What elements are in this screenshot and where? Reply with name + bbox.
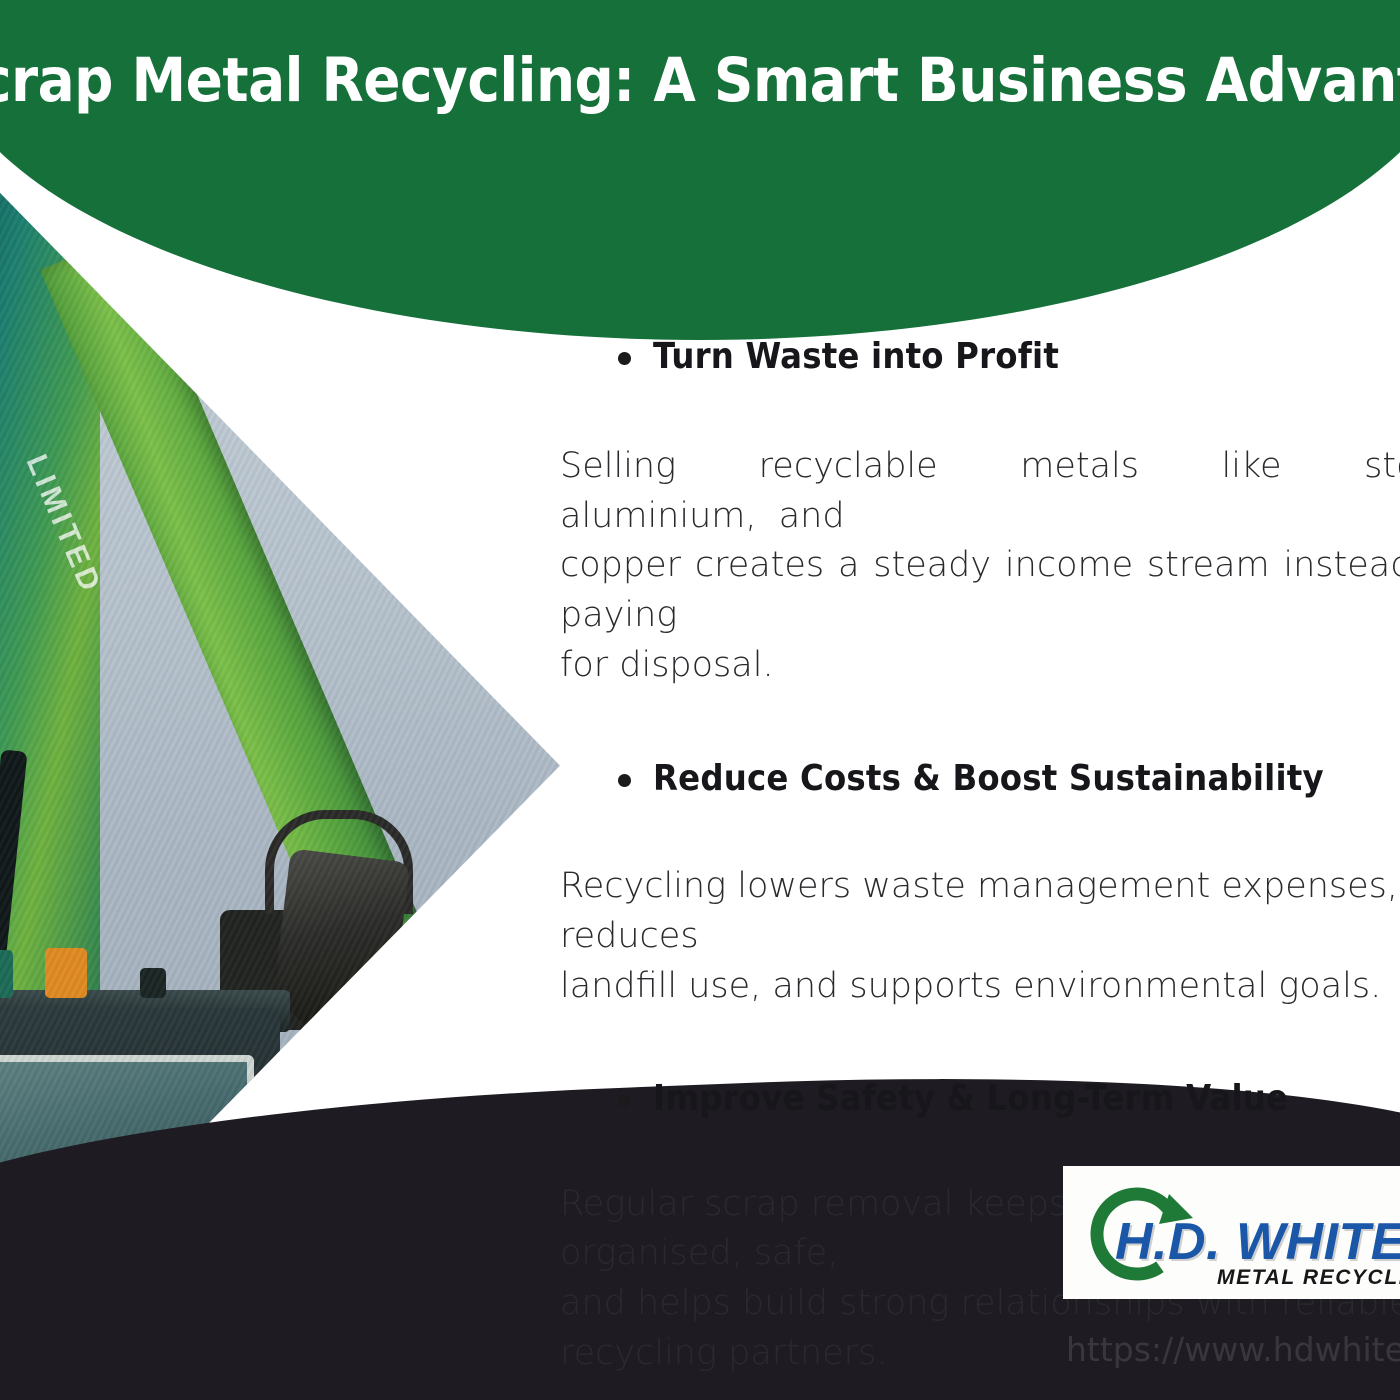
section-heading: Reduce Costs & Boost Sustainability (653, 752, 1324, 806)
spacer (560, 384, 1400, 442)
spacer (560, 690, 1400, 752)
website-url[interactable]: https://www.hdwhitemetalrecycling.co.uk/ (1066, 1330, 1400, 1369)
bullet-item-1: Turn Waste into Profit (618, 330, 1400, 384)
bullet-dot-icon (618, 352, 631, 365)
page-title: Scrap Metal Recycling: A Smart Business … (0, 45, 1400, 116)
section-2: Reduce Costs & Boost Sustainability Recy… (560, 752, 1400, 1011)
spacer (560, 1012, 1400, 1072)
logo-tagline-text: METAL RECYCLING (1217, 1266, 1400, 1290)
bullet-dot-icon (618, 774, 631, 787)
logo-brand-text: H.D. WHITE LTD (1115, 1212, 1400, 1272)
company-logo: H.D. WHITE LTD METAL RECYCLING (1063, 1166, 1400, 1299)
section-body: Recycling lowers waste management expens… (560, 862, 1400, 1011)
section-heading: Turn Waste into Profit (653, 330, 1059, 384)
bullet-item-2: Reduce Costs & Boost Sustainability (618, 752, 1400, 806)
company-logo-inner: H.D. WHITE LTD METAL RECYCLING (1063, 1166, 1400, 1299)
bullet-item-3: Improve Safety & Long-Term Value (618, 1072, 1400, 1126)
bullet-dot-icon (618, 1094, 631, 1107)
section-body: Selling recyclable metals like steel, al… (560, 442, 1400, 690)
section-1: Turn Waste into Profit Selling recyclabl… (560, 330, 1400, 690)
section-heading: Improve Safety & Long-Term Value (653, 1072, 1288, 1126)
infographic-canvas: Scrap Metal Recycling: A Smart Business … (0, 0, 1400, 1400)
spacer (560, 806, 1400, 862)
header-banner: Scrap Metal Recycling: A Smart Business … (0, 0, 1400, 340)
